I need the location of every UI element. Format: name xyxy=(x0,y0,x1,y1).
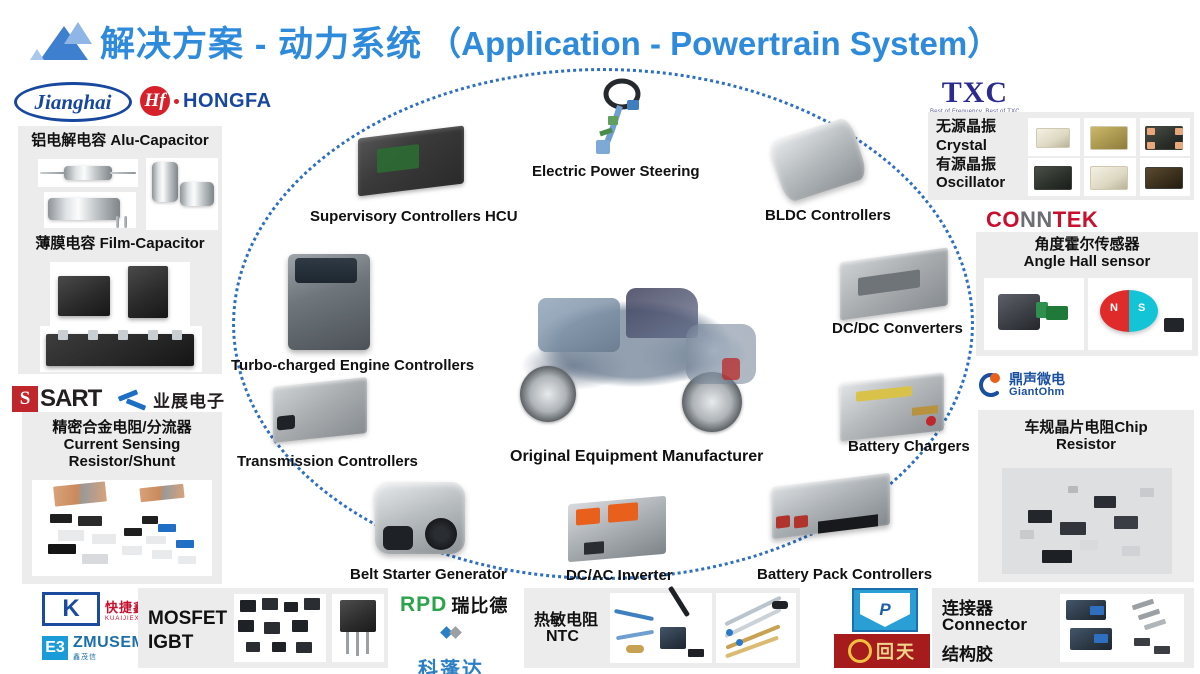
rpd-logo-cn: 瑞比德 xyxy=(451,592,508,618)
brand-zmusemi: E3 ZMUSEMI 鑫茂信 xyxy=(42,634,150,662)
chip-resistor-photo xyxy=(1002,468,1172,574)
huitian-ring-icon xyxy=(848,639,872,663)
turbo-engine-image xyxy=(288,254,370,350)
hall-sensor-title-cn: 角度霍尔传感器 xyxy=(976,232,1198,254)
panel-alu-film-capacitor: 铝电解电容 Alu-Capacitor 薄膜电容 Film-Capacitor xyxy=(18,126,222,374)
alu-cap-photo-3 xyxy=(146,158,218,230)
magnet-pole-n: N xyxy=(1110,302,1118,314)
giantohm-logo-cn: 鼎声微电 xyxy=(1009,372,1065,387)
oscillator-photo-1 xyxy=(1028,158,1080,196)
hall-sensor-title-en: Angle Hall sensor xyxy=(976,254,1198,271)
label-dcdc-converters: DC/DC Converters xyxy=(832,320,963,337)
alu-capacitor-title: 铝电解电容 Alu-Capacitor xyxy=(18,126,222,150)
brand-rpd: RPD 瑞比德 xyxy=(400,592,508,618)
panel-chip-resistor: 车规晶片电阻Chip Resistor xyxy=(978,410,1194,582)
sart-logo-label: SART xyxy=(40,385,101,413)
brand-hongfa: Hf HONGFA xyxy=(140,86,272,116)
giantohm-mark-icon xyxy=(974,370,1004,400)
txc-line-2: Crystal xyxy=(936,137,1022,156)
connector-title-en: Connector xyxy=(942,615,1027,635)
crystal-photo-1 xyxy=(1028,118,1080,156)
shunt-title-en-2: Resistor/Shunt xyxy=(22,454,222,471)
hongfa-mark-icon: Hf xyxy=(140,86,170,116)
panel-txc-crystal-oscillator: 无源晶振 Crystal 有源晶振 Oscillator xyxy=(928,112,1194,200)
brand-kuaijiexin: K 快捷鑫 KUAIJIEXIN xyxy=(42,592,148,626)
brand-connector: P xyxy=(852,588,918,632)
brand-conntek: CONNTEK xyxy=(986,207,1098,233)
film-capacitor-title: 薄膜电容 Film-Capacitor xyxy=(18,236,222,253)
slide-root: 解决方案 - 动力系统 （Application - Powertrain Sy… xyxy=(0,0,1200,674)
zmusemi-mark-icon: E3 xyxy=(42,636,68,660)
ntc-title-cn: 热敏电阻 xyxy=(534,606,598,630)
panel-current-sensing-resistor: 精密合金电阻/分流器 Current Sensing Resistor/Shun… xyxy=(22,412,222,584)
adhesive-title-cn: 结构胶 xyxy=(942,640,993,665)
alu-cap-photo-1 xyxy=(38,159,138,187)
oem-car-image xyxy=(486,262,782,440)
page-title-cn: 解决方案 - 动力系统 xyxy=(100,16,422,67)
film-cap-photo-2 xyxy=(40,326,202,372)
conntek-logo-part2: NN xyxy=(1020,207,1053,232)
kelongda-logo-cn: 科蓬达 xyxy=(418,653,484,674)
huitian-logo-cn: 回天 xyxy=(876,638,916,664)
hall-sensor-motor-photo xyxy=(984,278,1084,350)
label-dcac-inverter: DC/AC Inverter xyxy=(566,567,673,584)
oscillator-photo-3 xyxy=(1140,158,1190,196)
crystal-photo-2 xyxy=(1084,118,1136,156)
battery-charger-image xyxy=(840,373,944,442)
mosfet-photo xyxy=(234,594,326,662)
huitian-logo-icon: 回天 xyxy=(834,634,930,668)
brand-huitian: 回天 xyxy=(834,634,930,668)
conntek-logo-part1: CO xyxy=(986,207,1020,232)
conntek-logo-part3: TEK xyxy=(1053,207,1099,232)
page-title-en: （Application - Powertrain System） xyxy=(428,17,1000,65)
brand-kelongda: 科蓬达 xyxy=(418,622,484,674)
ntc-title-en: NTC xyxy=(546,628,579,646)
connector-brand-letter: P xyxy=(860,593,910,627)
txc-line-4: Oscillator xyxy=(936,174,1022,193)
giantohm-logo-en: GiantOhm xyxy=(1009,386,1065,398)
brand-sart: S SART xyxy=(12,385,101,413)
mosfet-label: MOSFET xyxy=(148,608,227,630)
label-transmission-controllers: Transmission Controllers xyxy=(237,453,418,470)
sart-mark-icon: S xyxy=(12,386,38,412)
alu-cap-photo-2 xyxy=(44,192,136,228)
ntc-photo-2 xyxy=(716,593,796,663)
connector-brand-mark-icon: P xyxy=(852,588,918,632)
label-supervisory-controllers-hcu: Supervisory Controllers HCU xyxy=(310,208,518,225)
conntek-logo-label: CONNTEK xyxy=(986,207,1098,233)
crystal-photo-3 xyxy=(1140,118,1190,156)
brand-jianghai: Jianghai xyxy=(14,82,132,122)
connector-photo xyxy=(1060,594,1184,662)
jianghai-logo-label: Jianghai xyxy=(14,82,132,122)
hongfa-logo-label: HONGFA xyxy=(183,90,272,113)
kelongda-mark-icon xyxy=(436,622,466,652)
shunt-title-cn: 精密合金电阻/分流器 xyxy=(22,412,222,437)
hall-sensor-magnet-photo: N S xyxy=(1088,278,1192,350)
label-original-equipment-manufacturer: Original Equipment Manufacturer xyxy=(510,448,763,466)
label-bldc-controllers: BLDC Controllers xyxy=(765,207,891,224)
dcac-inverter-image xyxy=(568,496,666,563)
igbt-label: IGBT xyxy=(148,632,193,654)
ntc-photo-1 xyxy=(610,593,712,663)
brand-txc: TXC Best of Frequency, Best of TXC xyxy=(930,78,1020,115)
label-belt-starter-generator: Belt Starter Generator xyxy=(350,566,507,583)
yezhan-logo-label: 业展电子 xyxy=(153,387,225,412)
rpd-logo-label: RPD xyxy=(400,593,447,617)
transmission-controller-image xyxy=(273,377,367,443)
yezhan-mark-icon xyxy=(118,390,148,410)
slide-title-bar: 解决方案 - 动力系统 （Application - Powertrain Sy… xyxy=(0,10,1200,72)
txc-line-3: 有源晶振 xyxy=(936,156,1022,175)
label-electric-power-steering: Electric Power Steering xyxy=(532,163,700,180)
kuaijiexin-mark-icon: K xyxy=(42,592,100,626)
panel-connector-adhesive: 连接器 Connector 结构胶 xyxy=(932,588,1194,668)
igbt-photo xyxy=(332,594,384,662)
label-battery-pack-controllers: Battery Pack Controllers xyxy=(757,566,932,583)
mountain-triangles-logo-icon xyxy=(28,18,100,64)
label-turbo-charged-engine-controllers: Turbo-charged Engine Controllers xyxy=(231,357,474,374)
panel-mosfet-igbt: MOSFET IGBT xyxy=(138,588,388,668)
hongfa-dot-icon xyxy=(174,99,179,104)
brand-giantohm: 鼎声微电 GiantOhm xyxy=(974,370,1065,400)
film-cap-photo-1 xyxy=(50,262,190,326)
panel-ntc-thermistor: 热敏电阻 NTC xyxy=(524,588,800,668)
magnet-pole-s: S xyxy=(1138,302,1145,314)
chip-resistor-title-en: Resistor xyxy=(978,437,1194,454)
txc-logo-label: TXC xyxy=(930,78,1020,108)
belt-starter-generator-image xyxy=(375,482,465,554)
brand-yezhan: 业展电子 xyxy=(118,387,225,412)
shunt-title-en-1: Current Sensing xyxy=(22,437,222,454)
chip-resistor-title-cn: 车规晶片电阻Chip xyxy=(978,410,1194,437)
electric-power-steering-image xyxy=(570,78,666,164)
shunt-photo xyxy=(32,480,212,576)
oscillator-photo-2 xyxy=(1084,158,1136,196)
label-battery-chargers: Battery Chargers xyxy=(848,438,970,455)
txc-line-1: 无源晶振 xyxy=(936,118,1022,137)
panel-angle-hall-sensor: 角度霍尔传感器 Angle Hall sensor N S xyxy=(976,232,1198,356)
